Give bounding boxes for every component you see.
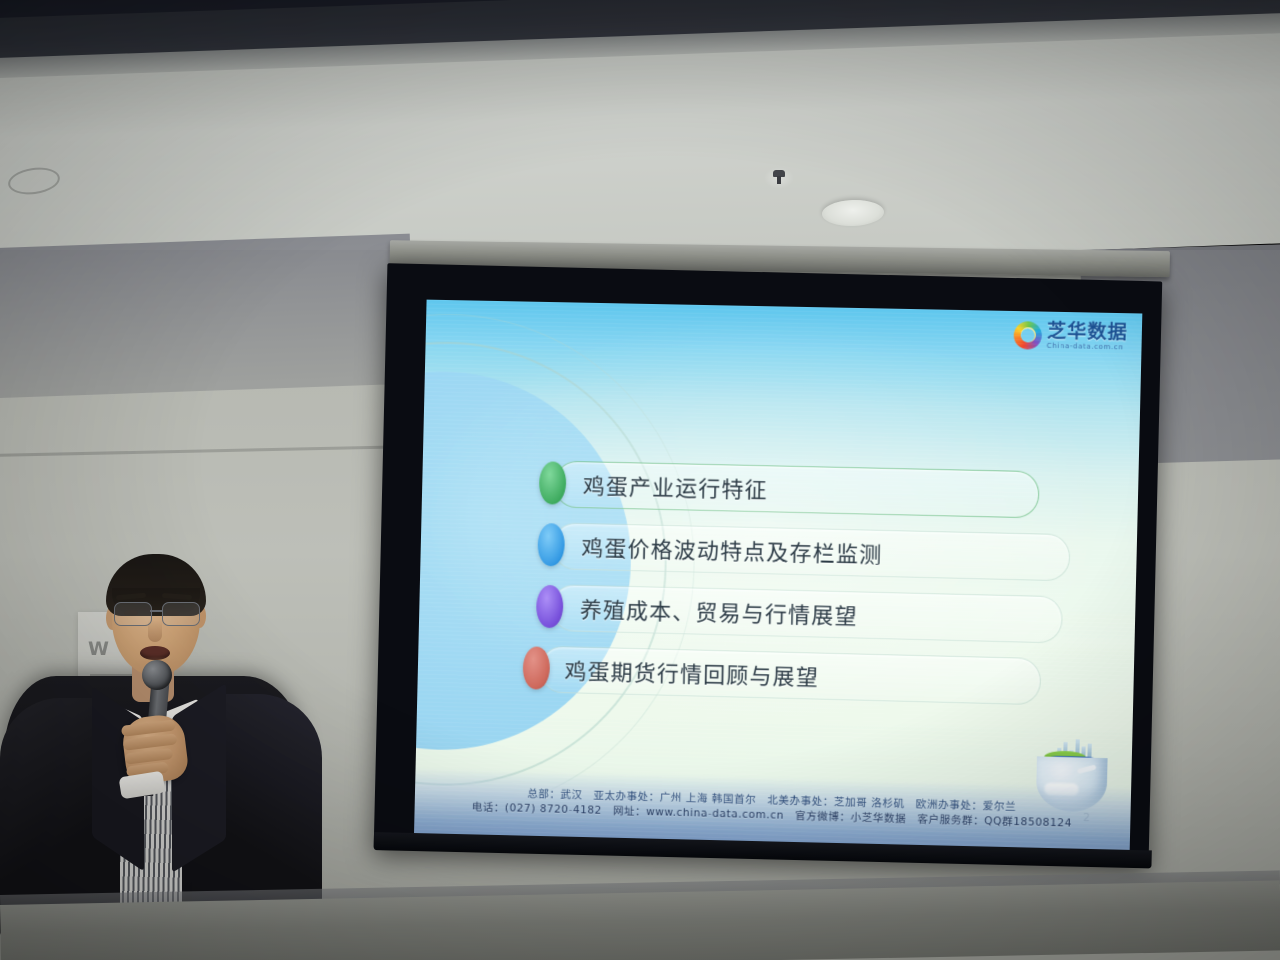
agenda-item-label: 鸡蛋产业运行特征: [583, 469, 769, 505]
projection-screen: 芝华数据 China-data.com.cn 鸡蛋产业运行特征 鸡蛋价格波动特点: [364, 240, 1178, 859]
microphone-icon: [142, 660, 172, 690]
presenter-nose: [148, 620, 162, 642]
logo-name-en: China-data.com.cn: [1047, 343, 1128, 352]
sprinkler-head-icon: [769, 170, 789, 186]
projected-slide: 芝华数据 China-data.com.cn 鸡蛋产业运行特征 鸡蛋价格波动特点: [414, 300, 1143, 862]
logo-name-cn: 芝华数据: [1047, 322, 1128, 343]
agenda-item-label: 养殖成本、贸易与行情展望: [580, 593, 859, 632]
agenda-item-label: 鸡蛋期货行情回顾与展望: [564, 654, 819, 692]
screen-black-border: 芝华数据 China-data.com.cn 鸡蛋产业运行特征 鸡蛋价格波动特点: [374, 263, 1163, 866]
logo-swirl-icon: [1013, 321, 1042, 350]
conference-room-photo: W 芝华数据 China-data.com.cn: [0, 0, 1280, 960]
agenda-list: 鸡蛋产业运行特征 鸡蛋价格波动特点及存栏监测 养殖成本、贸易与行情展望: [534, 453, 1100, 714]
brand-logo: 芝华数据 China-data.com.cn: [1013, 321, 1128, 351]
wall-left-shadow: [0, 234, 415, 400]
